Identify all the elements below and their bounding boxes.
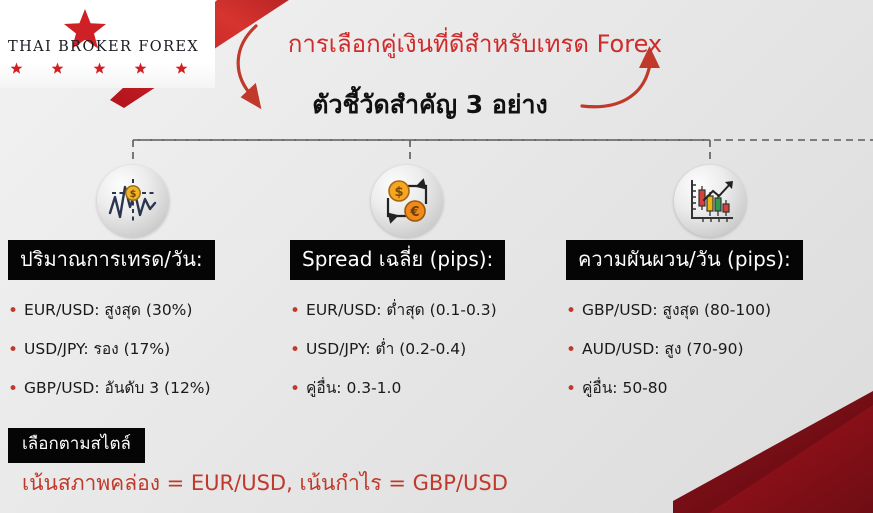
svg-text:€: €: [409, 205, 419, 220]
infographic-canvas: THAI BROKER FOREX การเลือกคู่เงินที่ดีสำ…: [0, 0, 873, 513]
volatility-line-chart-icon: $: [97, 165, 169, 237]
star-icon: [51, 62, 64, 75]
list-item: • EUR/USD: สูงสุด (30%): [8, 302, 276, 320]
list-item-label: USD/JPY: ต่ำ (0.2-0.4): [306, 341, 466, 359]
page-subtitle: ตัวชี้วัดสำคัญ 3 อย่าง: [255, 85, 605, 125]
list-item: • GBP/USD: อันดับ 3 (12%): [8, 380, 276, 398]
brand-name: THAI BROKER FOREX: [8, 39, 188, 55]
currency-exchange-coins-icon: $ €: [371, 165, 443, 237]
column-average-spread: Spread เฉลี่ย (pips): • EUR/USD: ต่ำสุด …: [290, 240, 535, 398]
column-header: ปริมาณการเทรด/วัน:: [8, 240, 215, 280]
list-item-label: GBP/USD: สูงสุด (80-100): [582, 302, 771, 320]
list-item-label: คู่อื่น: 0.3-1.0: [306, 380, 401, 398]
list-item: • USD/JPY: รอง (17%): [8, 341, 276, 359]
brand-logo: THAI BROKER FOREX: [0, 4, 200, 84]
candlestick-chart-uptrend-icon: [674, 165, 746, 237]
list-item: • AUD/USD: สูง (70-90): [566, 341, 851, 359]
icon-row: $ $ €: [0, 163, 873, 241]
column-trading-volume: ปริมาณการเทรด/วัน: • EUR/USD: สูงสุด (30…: [8, 240, 276, 398]
column-header: ความผันผวน/วัน (pips):: [566, 240, 803, 280]
bullet-icon: •: [566, 381, 576, 398]
list-item: • คู่อื่น: 50-80: [566, 380, 851, 398]
list-item: • GBP/USD: สูงสุด (80-100): [566, 302, 851, 320]
star-icon: [93, 62, 106, 75]
column-list: • EUR/USD: สูงสุด (30%) • USD/JPY: รอง (…: [8, 302, 276, 398]
brand-star-row: [10, 62, 188, 75]
bullet-icon: •: [290, 381, 300, 398]
star-icon: [175, 62, 188, 75]
column-volatility: ความผันผวน/วัน (pips): • GBP/USD: สูงสุด…: [566, 240, 851, 398]
bullet-icon: •: [8, 303, 18, 320]
list-item: • EUR/USD: ต่ำสุด (0.1-0.3): [290, 302, 535, 320]
footer-note: เน้นสภาพคล่อง = EUR/USD, เน้นกำไร = GBP/…: [22, 467, 508, 500]
list-item: • USD/JPY: ต่ำ (0.2-0.4): [290, 341, 535, 359]
column-header: Spread เฉลี่ย (pips):: [290, 240, 505, 280]
bullet-icon: •: [8, 342, 18, 359]
list-item-label: AUD/USD: สูง (70-90): [582, 341, 743, 359]
star-icon: [134, 62, 147, 75]
list-item-label: USD/JPY: รอง (17%): [24, 341, 170, 359]
page-title: การเลือกคู่เงินที่ดีสำหรับเทรด Forex: [255, 24, 695, 63]
column-list: • GBP/USD: สูงสุด (80-100) • AUD/USD: สู…: [566, 302, 851, 398]
svg-text:$: $: [130, 189, 137, 200]
list-item-label: GBP/USD: อันดับ 3 (12%): [24, 380, 211, 398]
bullet-icon: •: [566, 303, 576, 320]
svg-text:$: $: [394, 185, 403, 200]
column-list: • EUR/USD: ต่ำสุด (0.1-0.3) • USD/JPY: ต…: [290, 302, 535, 398]
list-item-label: EUR/USD: สูงสุด (30%): [24, 302, 192, 320]
bullet-icon: •: [290, 342, 300, 359]
bottom-red-corner-decoration: [673, 383, 873, 513]
list-item-label: คู่อื่น: 50-80: [582, 380, 667, 398]
footer-header: เลือกตามสไตล์: [8, 428, 145, 463]
list-item-label: EUR/USD: ต่ำสุด (0.1-0.3): [306, 302, 497, 320]
star-icon: [10, 62, 23, 75]
bullet-icon: •: [8, 381, 18, 398]
bullet-icon: •: [290, 303, 300, 320]
bullet-icon: •: [566, 342, 576, 359]
list-item: • คู่อื่น: 0.3-1.0: [290, 380, 535, 398]
